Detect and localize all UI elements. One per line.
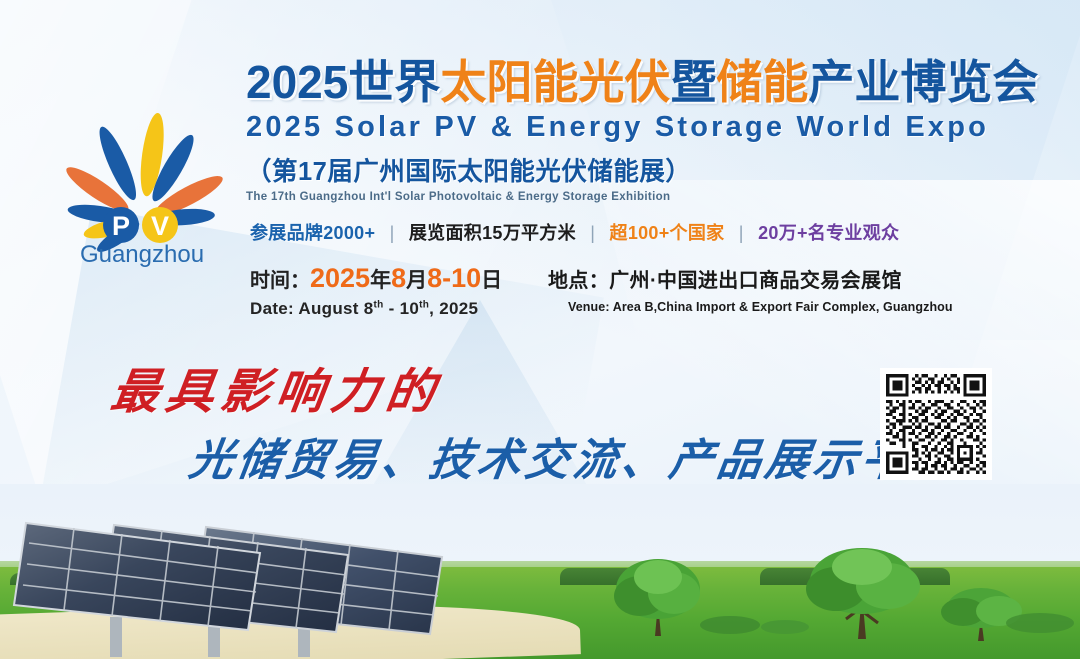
subtitle-chinese: （第17届广州国际太阳能光伏储能展） (246, 151, 1046, 188)
expo-poster: P V Guangzhou 2025世界太阳能光伏暨储能产业博览会 2025 S… (0, 0, 1080, 659)
date-en-day1: 8 (364, 299, 374, 318)
tree-shrubs (700, 613, 1074, 634)
date-en-day2: 10 (400, 299, 420, 318)
date-block: 时间：2025年8月8-10日 Date: August 8th - 10th,… (250, 262, 502, 319)
tree-cluster (600, 541, 1080, 651)
svg-text:V: V (151, 211, 169, 241)
title-cn-seg-4: 储能 (716, 56, 808, 108)
date-english: Date: August 8th - 10th, 2025 (250, 299, 502, 319)
subtitle-english: The 17th Guangzhou Int'l Solar Photovolt… (246, 191, 1046, 203)
svg-text:P: P (112, 211, 130, 241)
tree-center (806, 548, 920, 639)
sunburst-petals (62, 112, 227, 257)
date-day-unit: 日 (481, 269, 502, 292)
stat-separator: | (730, 223, 753, 243)
date-year-unit: 年 (370, 269, 391, 292)
title-chinese: 2025世界太阳能光伏暨储能产业博览会 (246, 58, 1046, 107)
bottom-scenery (0, 484, 1080, 659)
solar-panel-array (10, 499, 480, 659)
date-year: 2025 (310, 263, 370, 293)
stat-countries: 超100+个国家 (610, 223, 725, 243)
tree-right (941, 588, 1022, 641)
tree-left (614, 559, 700, 636)
logo-wordmark: Guangzhou (80, 241, 204, 268)
pv-guangzhou-logo: P V Guangzhou (48, 92, 238, 277)
stat-area: 展览面积15万平方米 (409, 223, 576, 243)
stat-brands: 参展品牌2000+ (250, 223, 375, 243)
date-en-prefix: Date: August (250, 299, 364, 318)
date-month: 8 (391, 263, 406, 293)
title-cn-seg-1: 2025世界 (246, 56, 440, 108)
headline-block: 2025世界太阳能光伏暨储能产业博览会 2025 Solar PV & Ener… (246, 58, 1046, 203)
stat-separator: | (581, 223, 604, 243)
date-days: 8-10 (427, 263, 481, 293)
date-en-suffix: , 2025 (429, 299, 478, 318)
venue-english: Venue: Area B,China Import & Export Fair… (568, 300, 953, 314)
date-month-unit: 月 (406, 269, 427, 292)
title-cn-seg-3: 暨 (670, 56, 716, 108)
title-cn-seg-5: 产业博览会 (808, 56, 1038, 108)
title-english: 2025 Solar PV & Energy Storage World Exp… (246, 111, 1046, 144)
slogan-line-1: 最具影响力的 (107, 352, 447, 422)
date-chinese: 时间：2025年8月8-10日 (250, 262, 502, 296)
stat-visitors: 20万+名专业观众 (758, 223, 899, 243)
qr-code-image[interactable] (880, 368, 992, 480)
logo-letter-p: P (103, 207, 139, 243)
date-en-sup2: th (419, 299, 429, 310)
venue-block: 地点：广州·中国进出口商品交易会展馆 Venue: Area B,China I… (548, 264, 953, 314)
stats-strip: 参展品牌2000+ | 展览面积15万平方米 | 超100+个国家 | 20万+… (250, 219, 899, 245)
date-en-sup1: th (374, 299, 384, 310)
logo-letter-v: V (142, 207, 178, 243)
stat-separator: | (381, 223, 404, 243)
venue-chinese: 地点：广州·中国进出口商品交易会展馆 (548, 264, 953, 293)
title-cn-seg-2: 太阳能光伏 (440, 56, 670, 108)
date-en-mid: - (384, 299, 400, 318)
date-label: 时间： (250, 270, 310, 292)
slogan-block: 最具影响力的 光储贸易、技术交流、产品展示平台！ (0, 352, 880, 488)
